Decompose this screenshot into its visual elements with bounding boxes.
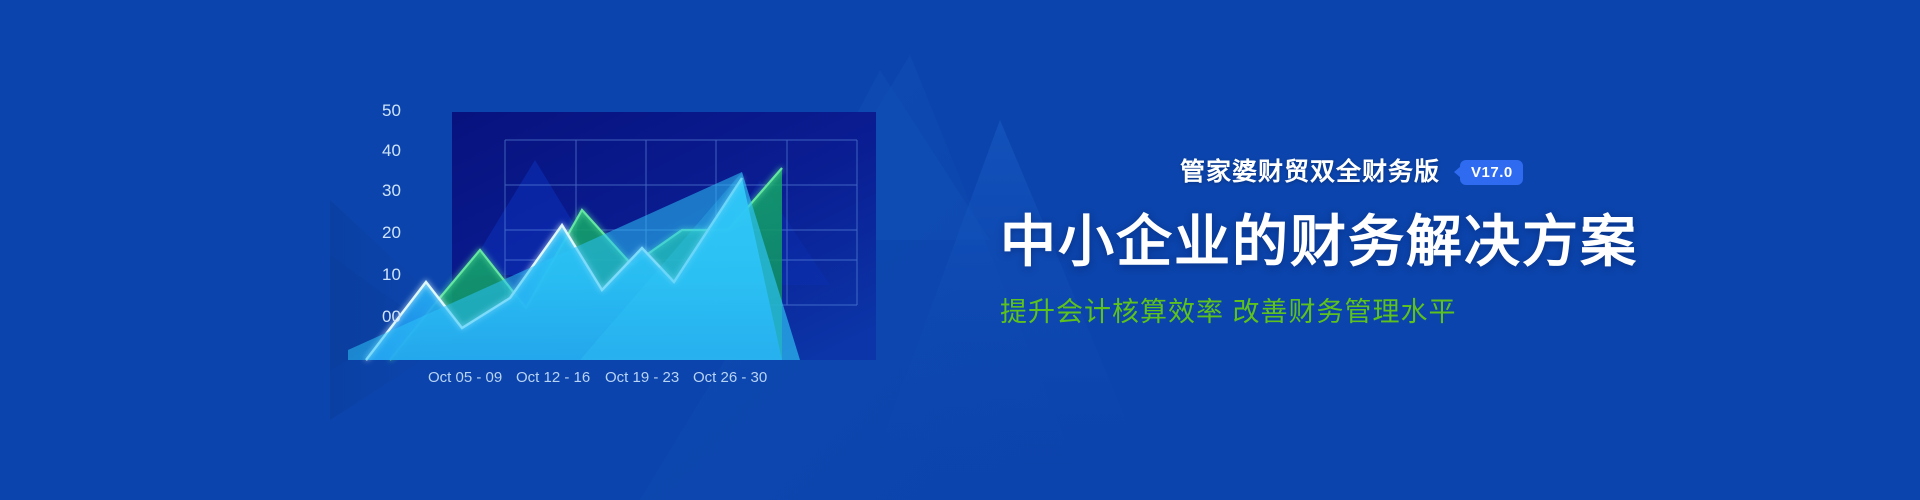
y-tick-1: 40 <box>382 141 401 160</box>
y-tick-4: 10 <box>382 265 401 284</box>
y-tick-2: 30 <box>382 181 401 200</box>
y-tick-3: 20 <box>382 223 401 242</box>
brand-row: 管家婆财贸双全财务版 V17.0 <box>1180 155 1760 189</box>
y-tick-0: 50 <box>382 101 401 120</box>
version-badge: V17.0 <box>1460 160 1523 185</box>
y-axis-labels: 50 40 30 20 10 00 <box>382 101 401 326</box>
banner-copy: 管家婆财贸双全财务版 V17.0 中小企业的财务解决方案 提升会计核算效率 改善… <box>1000 155 1760 328</box>
y-tick-5: 00 <box>382 307 401 326</box>
marketing-banner: 50 40 30 20 10 00 Oct 05 - 09 Oct 12 - 1… <box>0 0 1920 500</box>
chart-svg: 50 40 30 20 10 00 Oct 05 - 09 Oct 12 - 1… <box>330 60 1010 400</box>
subheadline: 提升会计核算效率 改善财务管理水平 <box>1000 296 1760 328</box>
x-tick-0: Oct 05 - 09 <box>428 369 502 386</box>
analytics-chart: 50 40 30 20 10 00 Oct 05 - 09 Oct 12 - 1… <box>330 60 1010 400</box>
product-name: 管家婆财贸双全财务版 <box>1180 160 1440 185</box>
headline: 中小企业的财务解决方案 <box>1000 211 1760 274</box>
x-tick-3: Oct 26 - 30 <box>693 369 767 386</box>
x-tick-1: Oct 12 - 16 <box>516 369 590 386</box>
x-axis-labels: Oct 05 - 09 Oct 12 - 16 Oct 19 - 23 Oct … <box>428 369 767 386</box>
x-tick-2: Oct 19 - 23 <box>605 369 679 386</box>
